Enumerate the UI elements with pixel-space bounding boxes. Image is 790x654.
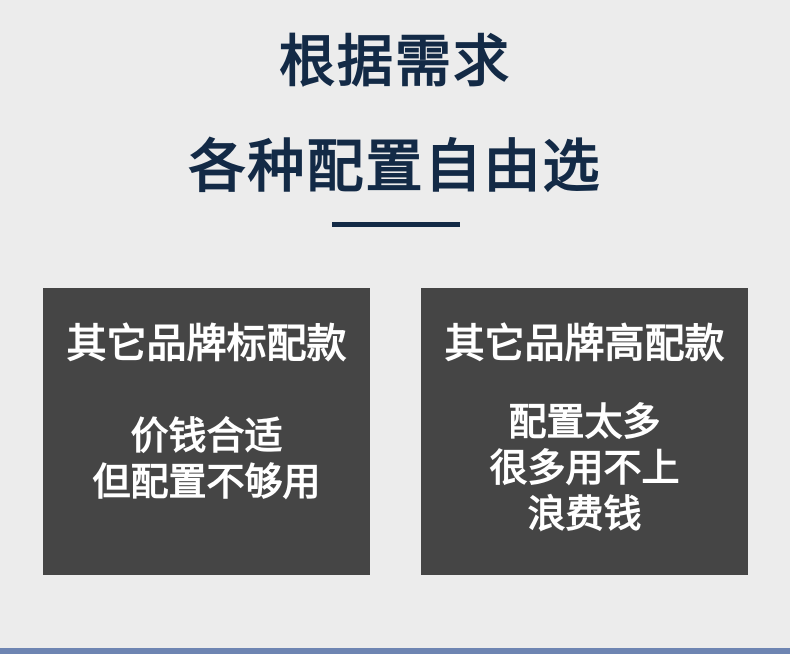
comparison-cards: 其它品牌标配款 价钱合适 但配置不够用 其它品牌高配款 配置太多 很多用不上 浪… xyxy=(43,288,748,575)
card-title: 其它品牌高配款 xyxy=(421,324,748,364)
card-body-line: 配置太多 xyxy=(421,400,748,446)
promo-page: 根据需求 各种配置自由选 其它品牌标配款 价钱合适 但配置不够用 其它品牌高配款… xyxy=(0,0,790,654)
card-standard-config[interactable]: 其它品牌标配款 价钱合适 但配置不够用 xyxy=(43,288,370,575)
card-body-line: 但配置不够用 xyxy=(43,460,370,506)
card-body: 配置太多 很多用不上 浪费钱 xyxy=(421,400,748,538)
heading-line-2: 各种配置自由选 xyxy=(0,139,790,196)
card-body: 价钱合适 但配置不够用 xyxy=(43,414,370,506)
card-high-config[interactable]: 其它品牌高配款 配置太多 很多用不上 浪费钱 xyxy=(421,288,748,575)
card-title: 其它品牌标配款 xyxy=(43,324,370,364)
heading-line-1: 根据需求 xyxy=(0,34,790,90)
card-body-line: 价钱合适 xyxy=(43,414,370,460)
card-body-line: 很多用不上 xyxy=(421,446,748,492)
heading-divider xyxy=(332,222,460,227)
bottom-accent-bar xyxy=(0,648,790,654)
card-body-line: 浪费钱 xyxy=(421,492,748,538)
